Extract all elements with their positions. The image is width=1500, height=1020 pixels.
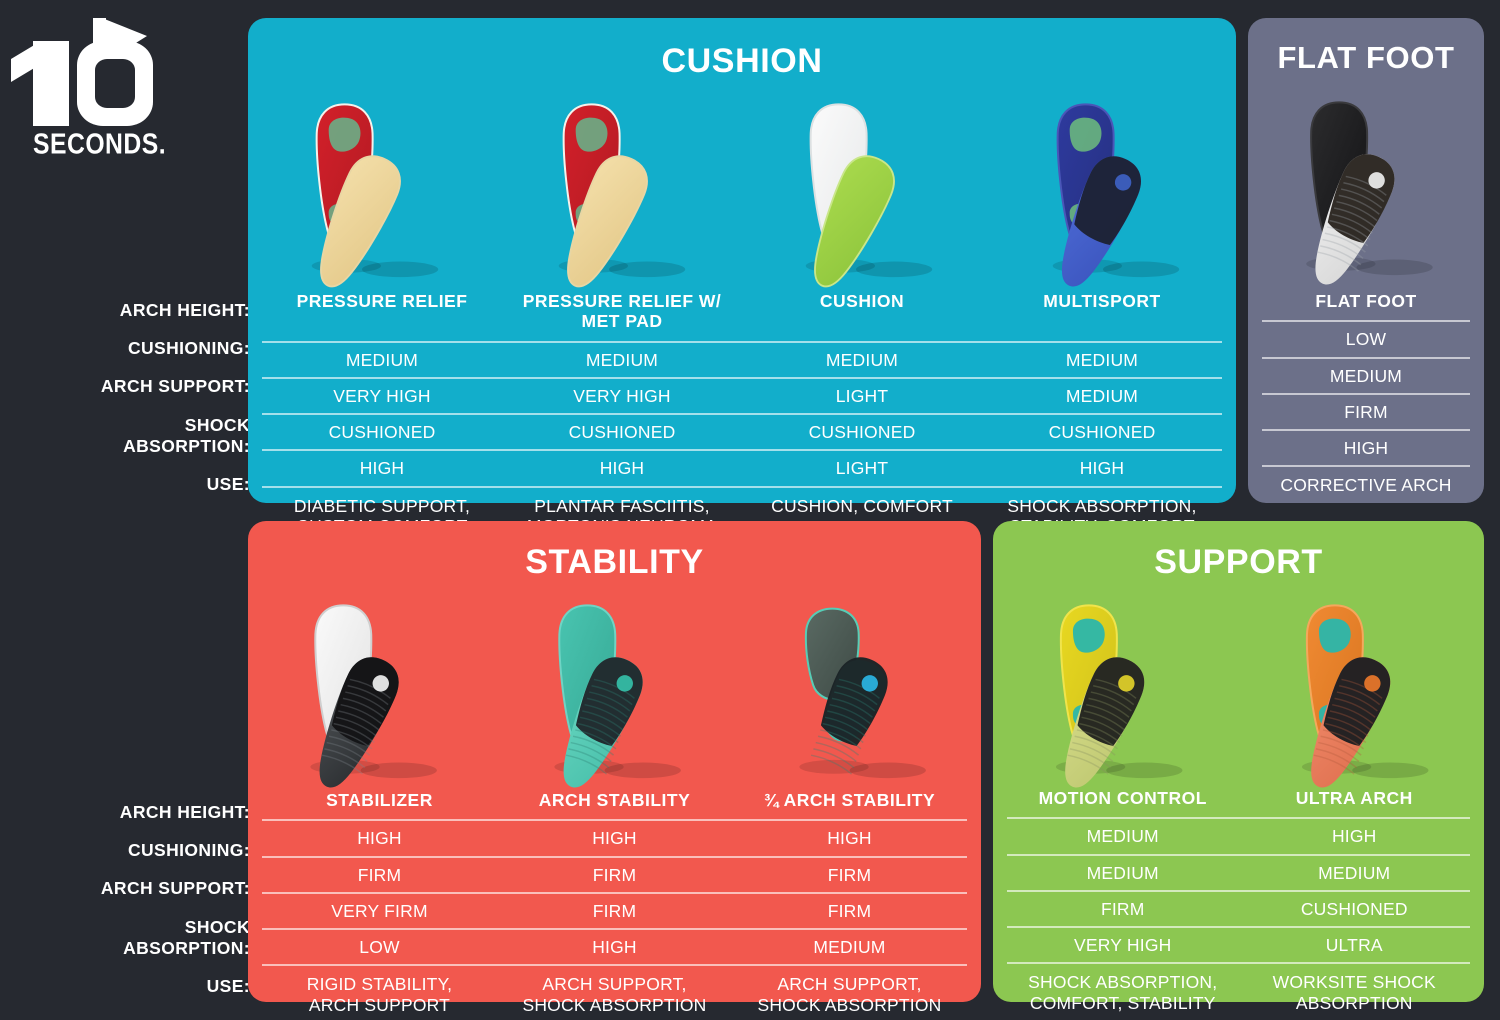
insole-illustration [989,96,1236,278]
row-labels-bottom: ARCH HEIGHT:CUSHIONING:ARCH SUPPORT:SHOC… [60,802,250,997]
table-row: LOW [1262,320,1470,356]
spec-cell: HIGH [1262,431,1470,465]
spec-cell: LOW [1262,322,1470,356]
cushion-product-images [248,96,1236,278]
insole-illustration [248,597,492,779]
spec-cell: FIRM [1262,395,1470,429]
product-image-stability-2 [737,597,981,779]
product-name-cell: FLAT FOOT [1262,284,1470,320]
spec-cell: CORRECTIVE ARCH [1262,467,1470,502]
table-row: HIGH [1262,429,1470,465]
stability-product-images [248,597,981,779]
spec-cell: MEDIUM [1262,359,1470,393]
panel-stability: STABILITY [248,521,981,1002]
spec-cell: MEDIUM [982,343,1222,377]
spec-cell: HIGH [497,821,732,855]
insole-illustration [742,96,989,278]
insole-illustration [492,597,736,779]
panel-support-title: SUPPORT [993,521,1484,582]
table-header-row: STABILIZERARCH STABILITY¾ ARCH STABILITY [262,783,967,819]
spec-cell: FIRM [497,894,732,928]
product-name-cell: ULTRA ARCH [1239,781,1471,817]
product-image-cushion-2 [742,96,989,278]
table-row: VERY HIGHVERY HIGHLIGHTMEDIUM [262,377,1222,413]
spec-cell: CUSHIONED [1239,892,1471,926]
support-spec-table: MOTION CONTROLULTRA ARCHMEDIUMHIGHMEDIUM… [993,781,1484,1020]
spec-cell: HIGH [502,451,742,485]
row-label: SHOCK ABSORPTION: [60,917,250,959]
product-name-cell: PRESSURE RELIEF [262,284,502,341]
spec-cell: CUSHIONED [262,415,502,449]
product-image-stability-1 [492,597,736,779]
table-row: FIRMFIRMFIRM [262,856,967,892]
spec-cell: MEDIUM [1239,856,1471,890]
spec-cell: WORKSITE SHOCKABSORPTION [1239,964,1471,1020]
panel-flatfoot-title: FLAT FOOT [1248,18,1484,76]
cushion-spec-table: PRESSURE RELIEFPRESSURE RELIEF W/ MET PA… [248,284,1236,543]
insole-illustration [1239,597,1485,779]
spec-cell: MEDIUM [262,343,502,377]
product-name-cell: MOTION CONTROL [1007,781,1239,817]
spec-cell: LIGHT [742,451,982,485]
product-image-cushion-1 [495,96,742,278]
table-row: MEDIUMHIGH [1007,817,1470,853]
spec-cell: FIRM [262,858,497,892]
row-label: ARCH HEIGHT: [60,802,250,823]
product-name-cell: MULTISPORT [982,284,1222,341]
product-name-cell: ARCH STABILITY [497,783,732,819]
table-row: CORRECTIVE ARCH [1262,465,1470,502]
product-image-cushion-3 [989,96,1236,278]
panel-flatfoot: FLAT FOOT FLAT FOOTLO [1248,18,1484,503]
product-name-cell: STABILIZER [262,783,497,819]
spec-cell: MEDIUM [982,379,1222,413]
table-row: LOWHIGHMEDIUM [262,928,967,964]
spec-cell: LIGHT [742,379,982,413]
table-row: RIGID STABILITY,ARCH SUPPORTARCH SUPPORT… [262,964,967,1020]
row-label: CUSHIONING: [60,840,250,861]
table-row: VERY FIRMFIRMFIRM [262,892,967,928]
product-name-cell: PRESSURE RELIEF W/ MET PAD [502,284,742,341]
logo-digit-zero-counter [95,59,135,108]
row-label: SHOCK ABSORPTION: [60,415,250,457]
table-row: FIRM [1262,393,1470,429]
spec-cell: HIGH [262,451,502,485]
row-label: USE: [60,474,250,495]
product-name-cell: ¾ ARCH STABILITY [732,783,967,819]
insole-illustration [737,597,981,779]
spec-cell: MEDIUM [502,343,742,377]
spec-cell: ARCH SUPPORT,SHOCK ABSORPTION [497,966,732,1020]
spec-cell: FIRM [732,858,967,892]
spec-cell: FIRM [1007,892,1239,926]
logo-digit-zero [77,41,153,126]
logo-wordmark: SECONDS. [33,129,217,161]
row-labels-top: ARCH HEIGHT:CUSHIONING:ARCH SUPPORT:SHOC… [60,300,250,495]
flatfoot-spec-table: FLAT FOOTLOWMEDIUMFIRMHIGHCORRECTIVE ARC… [1248,284,1484,503]
spec-cell: MEDIUM [742,343,982,377]
product-image-cushion-0 [248,96,495,278]
table-row: MEDIUM [1262,357,1470,393]
table-header-row: FLAT FOOT [1262,284,1470,320]
spec-cell: MEDIUM [1007,819,1239,853]
spec-cell: VERY FIRM [262,894,497,928]
spec-cell: VERY HIGH [1007,928,1239,962]
brand-logo: SECONDS. [33,18,223,178]
insole-illustration [1248,94,1484,276]
spec-cell: HIGH [982,451,1222,485]
insole-illustration [993,597,1239,779]
spec-cell: SHOCK ABSORPTION,COMFORT, STABILITY [1007,964,1239,1020]
table-row: MEDIUMMEDIUM [1007,854,1470,890]
spec-cell: ULTRA [1239,928,1471,962]
product-name-cell: CUSHION [742,284,982,341]
logo-mark [33,18,153,126]
row-label: ARCH SUPPORT: [60,376,250,397]
product-image-stability-0 [248,597,492,779]
spec-cell: CUSHIONED [982,415,1222,449]
logo-digit-one [33,41,69,126]
table-row: CUSHIONEDCUSHIONEDCUSHIONEDCUSHIONED [262,413,1222,449]
spec-cell: MEDIUM [1007,856,1239,890]
table-row: HIGHHIGHHIGH [262,819,967,855]
table-row: SHOCK ABSORPTION,COMFORT, STABILITYWORKS… [1007,962,1470,1020]
row-label: CUSHIONING: [60,338,250,359]
row-label: ARCH SUPPORT: [60,878,250,899]
spec-cell: HIGH [262,821,497,855]
spec-cell: MEDIUM [732,930,967,964]
table-header-row: MOTION CONTROLULTRA ARCH [1007,781,1470,817]
spec-cell: FIRM [732,894,967,928]
stability-spec-table: STABILIZERARCH STABILITY¾ ARCH STABILITY… [248,783,981,1020]
row-label: ARCH HEIGHT: [60,300,250,321]
table-row: MEDIUMMEDIUMMEDIUMMEDIUM [262,341,1222,377]
panel-stability-title: STABILITY [248,521,981,582]
spec-cell: RIGID STABILITY,ARCH SUPPORT [262,966,497,1020]
flatfoot-product-images [1248,94,1484,276]
spec-cell: LOW [262,930,497,964]
spec-cell: ARCH SUPPORT,SHOCK ABSORPTION [732,966,967,1020]
product-image-flatfoot-0 [1248,94,1484,276]
product-image-support-1 [1239,597,1485,779]
panel-cushion-title: CUSHION [248,18,1236,81]
panel-cushion: CUSHION [248,18,1236,503]
table-row: HIGHHIGHLIGHTHIGH [262,449,1222,485]
insole-illustration [248,96,495,278]
product-image-support-0 [993,597,1239,779]
support-product-images [993,597,1484,779]
spec-cell: HIGH [732,821,967,855]
spec-cell: VERY HIGH [502,379,742,413]
spec-cell: HIGH [1239,819,1471,853]
spec-cell: VERY HIGH [262,379,502,413]
spec-cell: FIRM [497,858,732,892]
table-header-row: PRESSURE RELIEFPRESSURE RELIEF W/ MET PA… [262,284,1222,341]
panel-support: SUPPORT [993,521,1484,1002]
spec-cell: CUSHIONED [742,415,982,449]
table-row: VERY HIGHULTRA [1007,926,1470,962]
infographic-root: SECONDS. ARCH HEIGHT:CUSHIONING:ARCH SUP… [0,0,1500,1020]
spec-cell: HIGH [497,930,732,964]
row-label: USE: [60,976,250,997]
insole-illustration [495,96,742,278]
table-row: FIRMCUSHIONED [1007,890,1470,926]
spec-cell: CUSHIONED [502,415,742,449]
